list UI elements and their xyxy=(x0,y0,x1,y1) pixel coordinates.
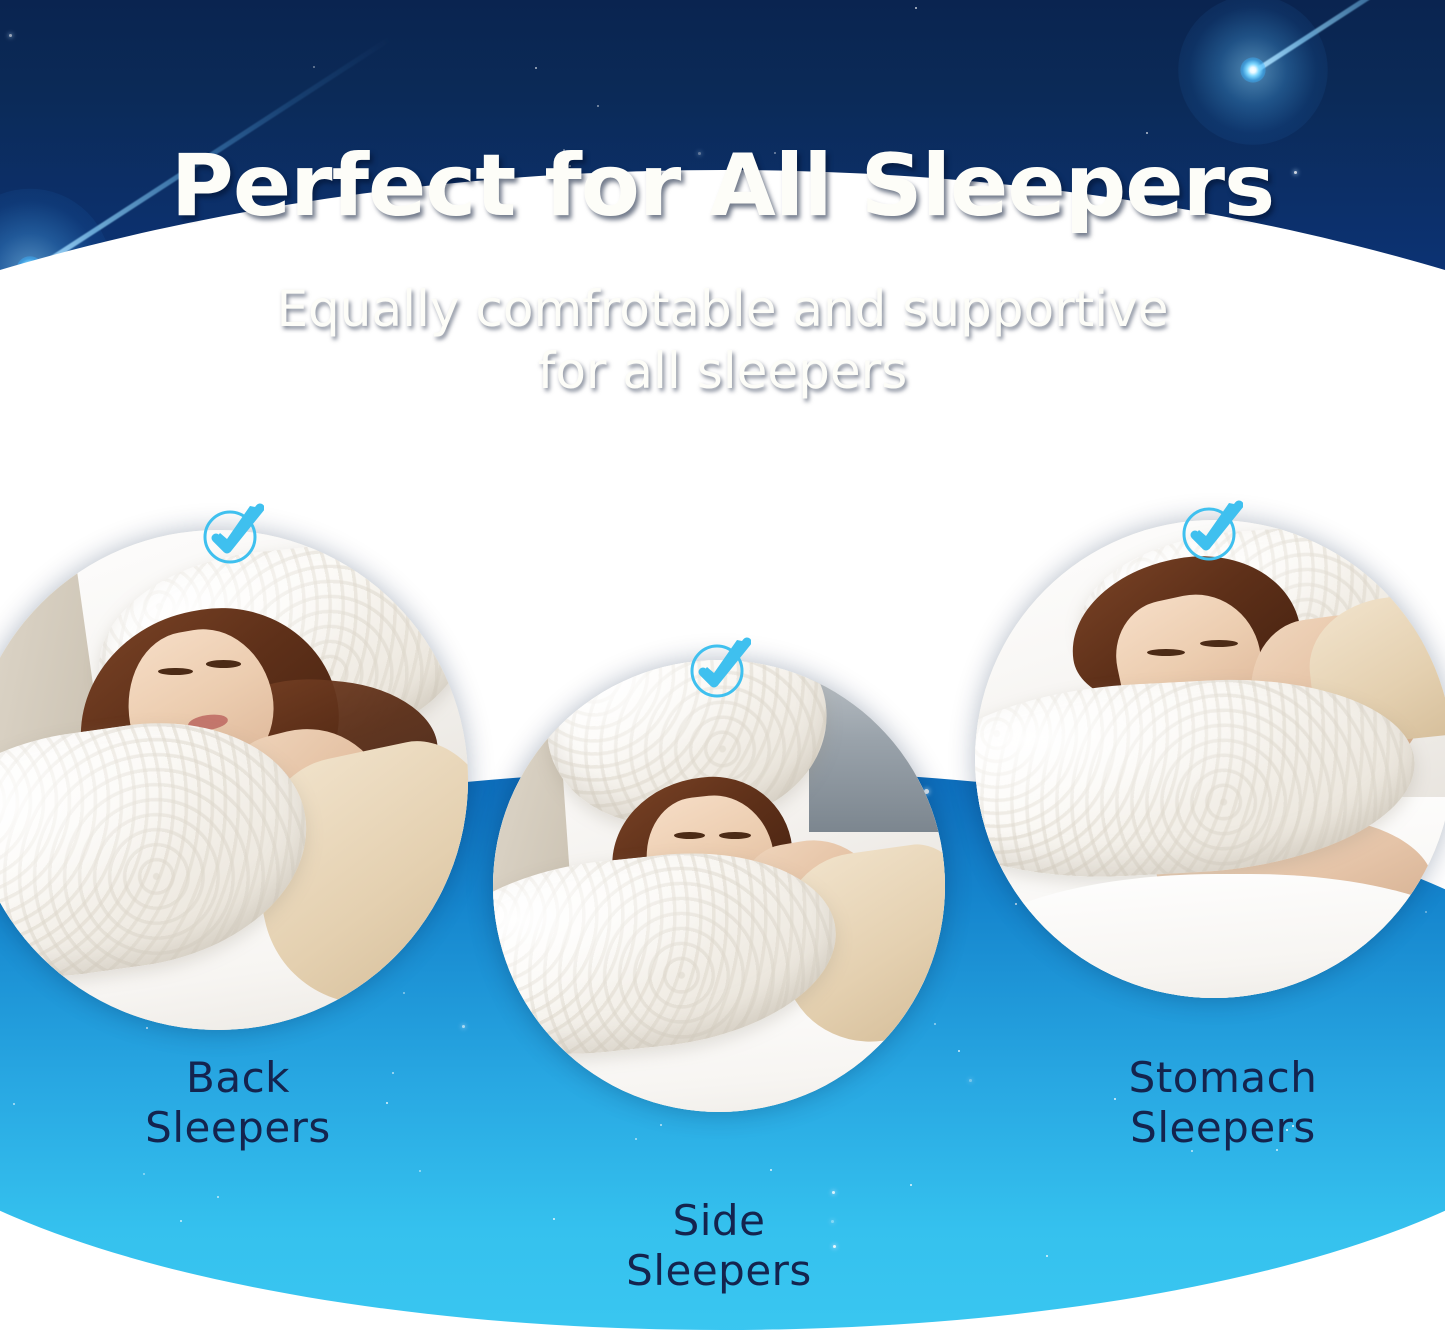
photo-layer-eye-right xyxy=(719,832,751,839)
check-circle-icon-side-sleepers xyxy=(687,637,751,701)
label-stomach-sleepers: Stomach Sleepers xyxy=(1023,1053,1423,1153)
page-subtitle-line-2: for all sleepers xyxy=(0,340,1445,402)
photo-layer-eye-left xyxy=(158,668,193,676)
label-back-sleepers: Back Sleepers xyxy=(38,1053,438,1153)
photo-circle-back-sleepers xyxy=(0,530,468,1030)
page-subtitle: Equally comfrotable and supportive for a… xyxy=(0,278,1445,402)
check-circle-icon-stomach-sleepers xyxy=(1179,500,1243,564)
photo-layer-eye-right xyxy=(1200,640,1238,647)
check-circle-icon-back-sleepers xyxy=(200,503,264,567)
photo-layer-room-background xyxy=(809,660,945,832)
page-subtitle-line-1: Equally comfrotable and supportive xyxy=(276,280,1168,338)
photo-circle-stomach-sleepers xyxy=(975,520,1445,998)
label-side-sleepers: Side Sleepers xyxy=(519,1196,919,1296)
promo-banner: Perfect for All Sleepers Equally comfrot… xyxy=(0,0,1445,1342)
page-title: Perfect for All Sleepers xyxy=(0,138,1445,234)
photo-layer-eye-right xyxy=(206,660,241,668)
photo-circle-side-sleepers xyxy=(493,660,945,1112)
photo-layer-eye-left xyxy=(674,832,706,839)
